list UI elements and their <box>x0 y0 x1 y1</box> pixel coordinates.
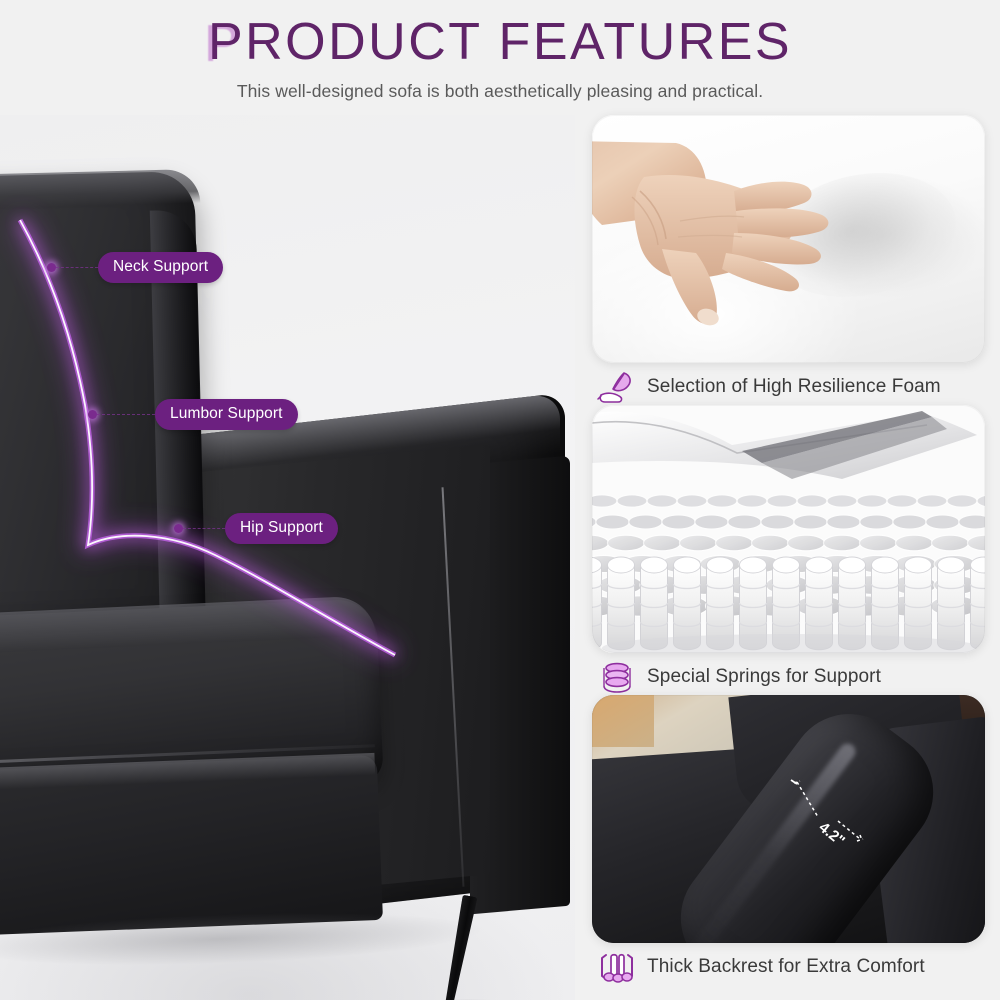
feature-caption-springs: Special Springs for Support <box>575 659 1000 695</box>
page-title-wrapper: P PRODUCT FEATURES <box>208 12 792 72</box>
dimension-value: 4.2" <box>815 819 847 847</box>
page-subtitle: This well-designed sofa is both aestheti… <box>0 81 1000 102</box>
annotation-neck-support[interactable]: Neck Support <box>47 252 223 283</box>
header: P PRODUCT FEATURES This well-designed so… <box>0 0 1000 115</box>
caliper-cushion-icon <box>597 949 637 985</box>
feather-on-hand-icon <box>597 369 637 405</box>
pocket-springs-illustration <box>592 405 985 653</box>
coil-spring-icon <box>597 659 637 695</box>
hip-leader-line <box>183 528 225 529</box>
hand-illustration <box>592 129 914 359</box>
lumbar-support-point <box>88 410 97 419</box>
product-features-infographic: P PRODUCT FEATURES This well-designed so… <box>0 0 1000 1000</box>
feature-caption-backrest: Thick Backrest for Extra Comfort <box>575 949 1000 985</box>
lumbar-support-label: Lumbor Support <box>155 399 298 430</box>
sofa-leg <box>441 895 477 1000</box>
hip-support-point <box>174 524 183 533</box>
lumbar-leader-line <box>97 414 155 415</box>
feature-caption-text-backrest: Thick Backrest for Extra Comfort <box>647 956 925 978</box>
annotation-hip-support[interactable]: Hip Support <box>174 513 338 544</box>
hip-support-label: Hip Support <box>225 513 338 544</box>
feature-caption-text-springs: Special Springs for Support <box>647 666 881 688</box>
feature-card-foam[interactable]: Selection of High Resilience Foam <box>575 115 1000 405</box>
hand-pressing-foam-photo <box>592 115 985 363</box>
page-title: PRODUCT FEATURES <box>208 12 792 72</box>
feature-cards-column: Selection of High Resilience Foam <box>575 110 1000 1000</box>
feature-caption-text-foam: Selection of High Resilience Foam <box>647 376 941 398</box>
neck-support-point <box>47 263 56 272</box>
neck-leader-line <box>56 267 98 268</box>
feature-card-backrest[interactable]: 4.2" Thick Backrest for Extra Comfort <box>575 695 1000 995</box>
room-floor-wood <box>592 695 654 747</box>
neck-support-label: Neck Support <box>98 252 223 283</box>
pocket-springs-photo <box>592 405 985 653</box>
feature-caption-foam: Selection of High Resilience Foam <box>575 369 1000 405</box>
feature-card-springs[interactable]: Special Springs for Support <box>575 405 1000 695</box>
sofa-illustration-panel: Neck Support Lumbor Support Hip Support <box>0 115 575 1000</box>
black-backrest-photo: 4.2" <box>592 695 985 943</box>
dimension-annotation: 4.2" <box>788 777 878 847</box>
annotation-lumbar-support[interactable]: Lumbor Support <box>88 399 298 430</box>
